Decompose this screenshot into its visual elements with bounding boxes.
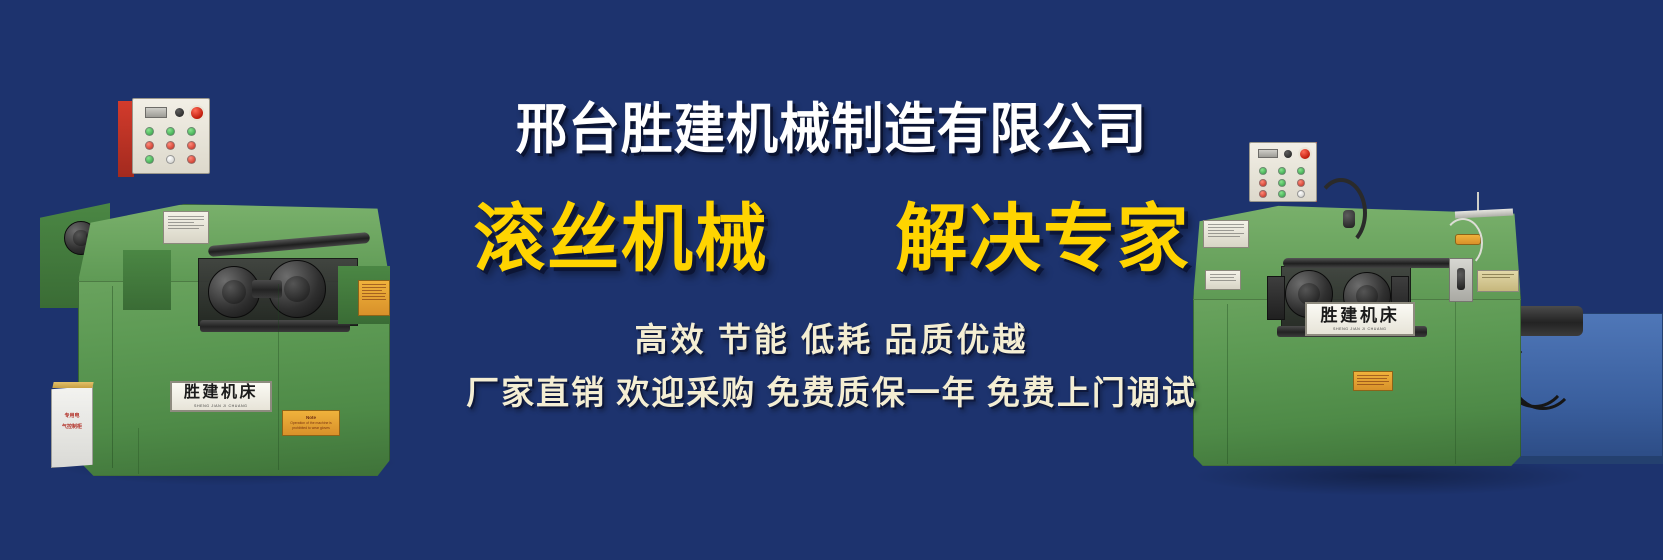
machine-right-indicator-5[interactable] bbox=[1278, 179, 1286, 187]
headline-row: 滚丝机械 解决专家 bbox=[0, 202, 1663, 276]
machine-right-indicator-7[interactable] bbox=[1259, 190, 1267, 198]
promotional-banner: 胜建机床 SHENG JIAN JI CHUANG Note Operation… bbox=[0, 0, 1663, 560]
machine-right-indicator-9[interactable] bbox=[1297, 190, 1305, 198]
machine-left-note-body: Operation of the machine is prohibited t… bbox=[283, 420, 339, 430]
machine-right-brand-plate-cn: 胜建机床 bbox=[1321, 307, 1400, 324]
machine-right-indicator-1[interactable] bbox=[1259, 167, 1267, 175]
machine-right-hydraulic-unit-base bbox=[1507, 456, 1663, 464]
machine-left-cabinet-label: 专用电 气控制柜 bbox=[52, 413, 92, 431]
machine-left-body-seam-1 bbox=[112, 286, 113, 468]
machine-left-body-seam-2 bbox=[278, 284, 279, 470]
machine-right-indicator-4[interactable] bbox=[1259, 179, 1267, 187]
headline-left-text: 滚丝机械 bbox=[473, 202, 768, 276]
machine-right-thread-rolling-machine: 胜建机床 SHENG JIAN JI CHUANG bbox=[1155, 118, 1663, 490]
machine-right-indicator-6[interactable] bbox=[1297, 179, 1305, 187]
machine-right-indicator-3[interactable] bbox=[1297, 167, 1305, 175]
machine-left-warning-plate-top bbox=[358, 280, 390, 316]
subtitle-features: 高效 节能 低耗 品质优越 bbox=[0, 325, 1663, 358]
machine-left-note-label: Note Operation of the machine is prohibi… bbox=[282, 410, 340, 436]
subtitle-services: 厂家直销 欢迎采购 免费质保一年 免费上门调试 bbox=[0, 378, 1663, 411]
machine-right-indicator-2[interactable] bbox=[1278, 167, 1286, 175]
company-title: 邢台胜建机械制造有限公司 bbox=[50, 102, 1613, 157]
machine-right-slide-left bbox=[1267, 276, 1285, 320]
headline-right-text: 解决专家 bbox=[895, 202, 1190, 276]
machine-right-indicator-8[interactable] bbox=[1278, 190, 1286, 198]
machine-left-body-seam-3 bbox=[138, 428, 139, 474]
